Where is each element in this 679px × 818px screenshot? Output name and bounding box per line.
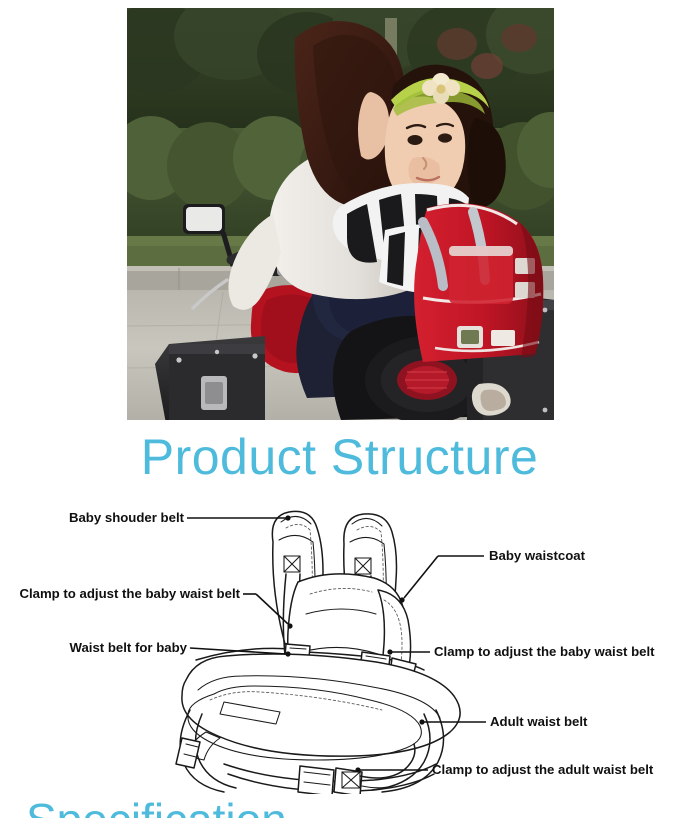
- product-structure-diagram: Baby shouder belt Clamp to adjust the ba…: [0, 494, 679, 794]
- label-adult-waist-belt: Adult waist belt: [490, 714, 588, 729]
- next-section-heading: Specification: [26, 794, 446, 818]
- label-waist-belt-for-baby: Waist belt for baby: [70, 640, 188, 655]
- label-clamp-baby-waist-belt-left: Clamp to adjust the baby waist belt: [19, 586, 240, 601]
- diagram-artwork: Baby shouder belt Clamp to adjust the ba…: [0, 494, 679, 794]
- label-clamp-baby-waist-belt-right: Clamp to adjust the baby waist belt: [434, 644, 655, 659]
- page-title: Product Structure: [0, 428, 679, 486]
- label-baby-waistcoat: Baby waistcoat: [489, 548, 586, 563]
- next-section-heading-text: Specification: [26, 794, 446, 818]
- product-in-use-photo: [127, 8, 554, 420]
- label-baby-shoulder-belt: Baby shouder belt: [69, 510, 185, 525]
- label-clamp-adult-waist-belt: Clamp to adjust the adult waist belt: [432, 762, 654, 777]
- photo-artwork: [127, 8, 554, 420]
